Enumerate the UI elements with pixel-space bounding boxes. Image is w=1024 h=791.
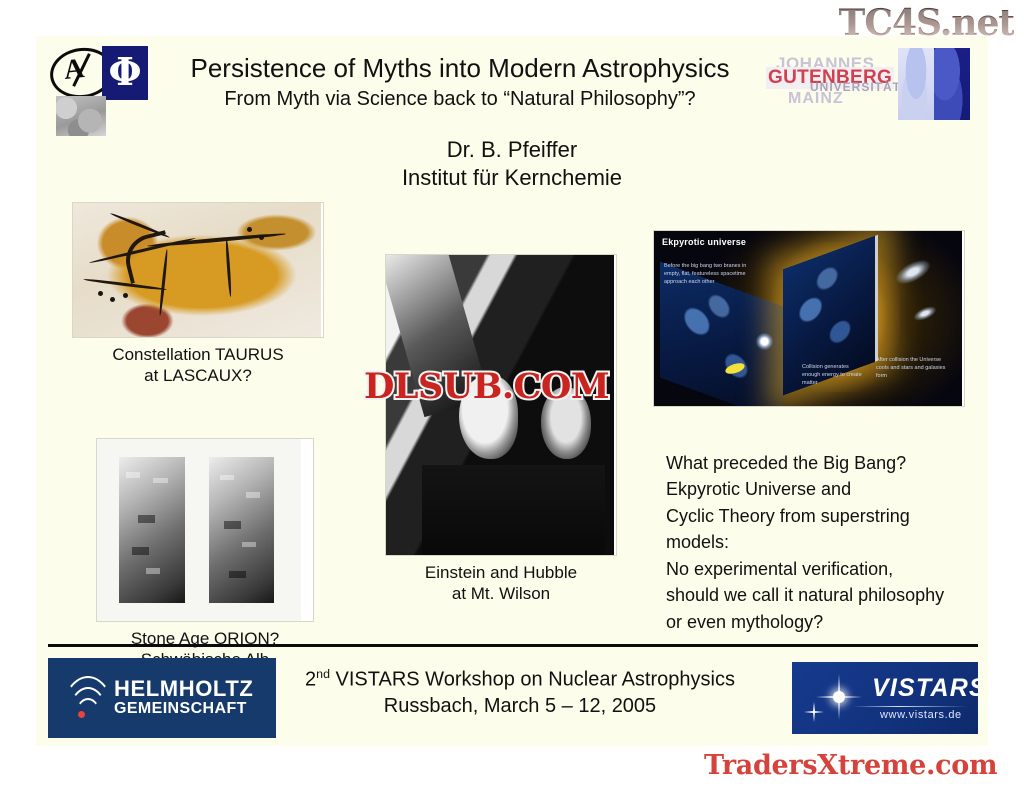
helmholtz-sub: GEMEINSCHAFT xyxy=(114,701,247,717)
author-institute: Institut für Kernchemie xyxy=(36,164,988,192)
watermark-tc4s: TC4S.net xyxy=(839,2,1014,44)
footer-ordinal-number: 2 xyxy=(305,669,316,691)
figure-lascaux: Constellation TAURUS at LASCAUX? xyxy=(72,202,324,386)
helmholtz-dot-icon xyxy=(78,711,85,718)
vistars-logo: VISTARS www.vistars.de xyxy=(792,662,978,734)
figure-ekpyrotic-universe: Ekpyrotic universe Before the big bang t… xyxy=(653,230,965,407)
ekpyrotic-note-collision: Collision generates enough energy to cre… xyxy=(802,364,866,388)
lascaux-caption-line1: Constellation TAURUS xyxy=(72,345,324,366)
slide-subtitle: From Myth via Science back to “Natural P… xyxy=(140,87,780,111)
slide-footer: HELMHOLTZ GEMEINSCHAFT 2nd VISTARS Works… xyxy=(36,654,988,746)
ekpyrotic-universe-diagram: Ekpyrotic universe Before the big bang t… xyxy=(654,231,962,406)
lascaux-cave-painting-image xyxy=(73,203,321,337)
mainz-university-logo: JOHANNES GUTENBERG UNIVERSITÄT MAINZ xyxy=(752,46,976,124)
footer-line1: 2nd VISTARS Workshop on Nuclear Astrophy… xyxy=(280,666,760,693)
gutenberg-head-icon-light xyxy=(898,48,934,120)
author-block: Dr. B. Pfeiffer Institut für Kernchemie xyxy=(36,136,988,191)
ivory-tablet-back xyxy=(209,457,274,603)
coats-shadow xyxy=(422,465,604,555)
title-block: Persistence of Myths into Modern Astroph… xyxy=(140,54,780,111)
einstein-caption-line1: Einstein and Hubble xyxy=(385,563,617,584)
right-text-line6: should we call it natural philosophy xyxy=(666,582,982,608)
lascaux-caption: Constellation TAURUS at LASCAUX? xyxy=(72,345,324,386)
einstein-caption-line2: at Mt. Wilson xyxy=(385,584,617,605)
ekpyrotic-image-frame: Ekpyrotic universe Before the big bang t… xyxy=(653,230,965,407)
lascaux-image-frame xyxy=(72,202,324,338)
orion-image-frame xyxy=(96,438,314,622)
stone-age-orion-tablet-image xyxy=(97,439,301,621)
right-text-line4: models: xyxy=(666,529,982,555)
galaxy-icon-2 xyxy=(912,304,938,324)
vistars-small-star-icon xyxy=(804,702,824,722)
mainz-logo-line4: MAINZ xyxy=(788,90,844,108)
footer-line2: Russbach, March 5 – 12, 2005 xyxy=(280,693,760,719)
ekpyrotic-diagram-title: Ekpyrotic universe xyxy=(662,237,746,247)
right-text-line3: Cyclic Theory from superstring xyxy=(666,503,982,529)
watermark-dlsub: DLSUB.COM xyxy=(364,366,609,407)
author-name: Dr. B. Pfeiffer xyxy=(36,136,988,164)
flare-icon xyxy=(756,333,773,350)
slide-title: Persistence of Myths into Modern Astroph… xyxy=(140,54,780,83)
right-text-line1: What preceded the Big Bang? xyxy=(666,450,982,476)
right-text-line7: or even mythology? xyxy=(666,609,982,635)
helmholtz-logo: HELMHOLTZ GEMEINSCHAFT xyxy=(48,658,276,738)
footer-event-text: 2nd VISTARS Workshop on Nuclear Astrophy… xyxy=(280,666,760,719)
vistars-name: VISTARS xyxy=(872,676,978,701)
ekpyrotic-note-after: After collision the Universe cools and s… xyxy=(876,357,948,381)
watermark-tradersxtreme: TradersXtreme.com xyxy=(704,750,997,781)
gutenberg-head-icon-dark xyxy=(934,48,970,120)
helmholtz-arcs-icon xyxy=(60,678,112,720)
vistars-rule xyxy=(852,706,968,707)
ivory-tablet-front xyxy=(119,457,184,603)
vistars-url: www.vistars.de xyxy=(880,710,962,721)
figure-einstein-hubble: Einstein and Hubble at Mt. Wilson xyxy=(385,254,617,604)
lascaux-caption-line2: at LASCAUX? xyxy=(72,366,324,387)
einstein-caption: Einstein and Hubble at Mt. Wilson xyxy=(385,563,617,604)
ekpyrotic-note-before: Before the big bang two branes in empty,… xyxy=(664,263,756,287)
ag-phi-logo: A Φ xyxy=(50,46,150,130)
footer-ordinal-suffix: nd xyxy=(316,667,330,681)
footer-divider xyxy=(48,644,978,647)
logo-photo-thumbnail xyxy=(56,96,106,136)
slide-header: A Φ Persistence of Myths into Modern Ast… xyxy=(36,36,988,136)
footer-event-name: VISTARS Workshop on Nuclear Astrophysics xyxy=(330,669,735,691)
helmholtz-name: HELMHOLTZ xyxy=(114,678,253,700)
figure-orion-plaque: Stone Age ORION? Schwäbische Alb xyxy=(96,438,314,670)
ekpyrotic-discussion-text: What preceded the Big Bang? Ekpyrotic Un… xyxy=(666,450,982,635)
right-text-line2: Ekpyrotic Universe and xyxy=(666,476,982,502)
right-text-line5: No experimental verification, xyxy=(666,556,982,582)
